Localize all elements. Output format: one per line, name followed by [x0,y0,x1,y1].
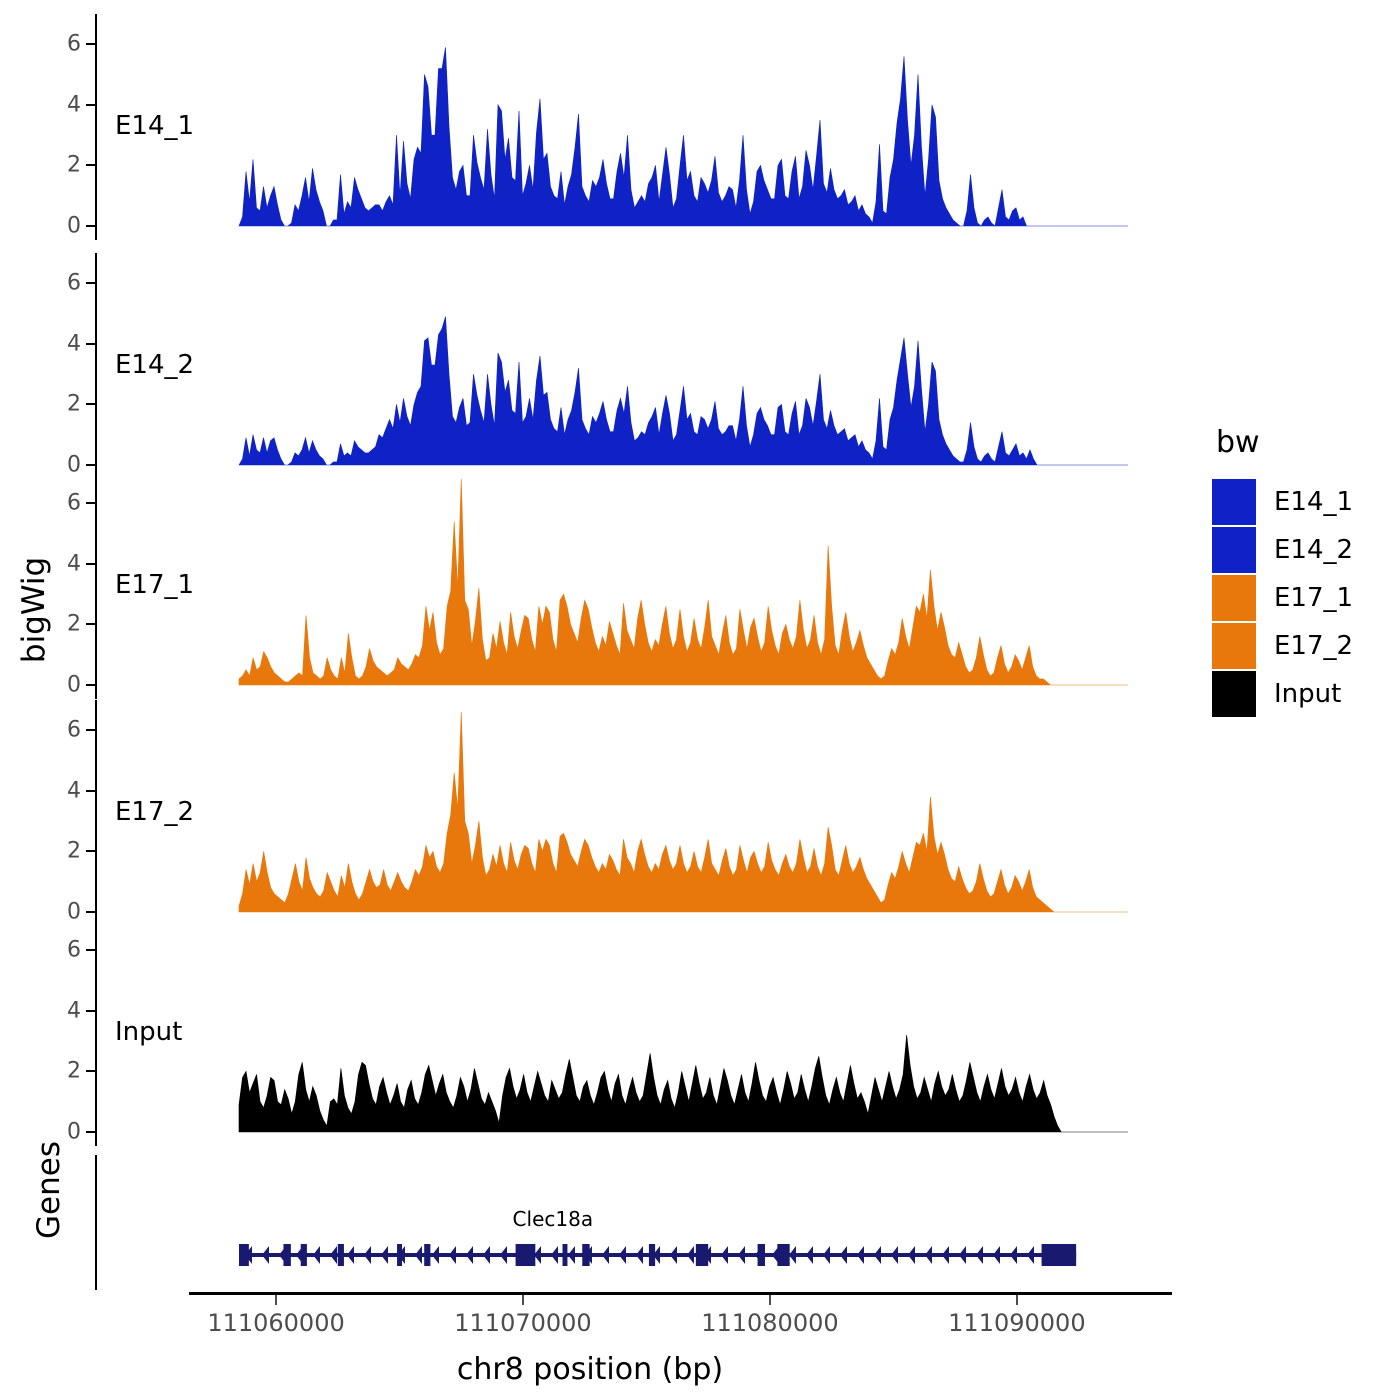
y-ticks-input: 0246 [0,920,95,1146]
y-tick-label: 6 [67,491,81,516]
y-tick-label: 4 [67,331,81,356]
legend-label: E14_1 [1274,487,1353,517]
track-panel-e17_1: 0246E17_1 [0,473,1180,699]
y-tick-label: 4 [67,998,81,1023]
genes-plot-area: Clec18a [97,1155,1180,1290]
y-tick [86,729,95,731]
y-tick [86,43,95,45]
track-label-e14_2: E14_2 [115,350,194,380]
y-ticks-e14_2: 0246 [0,253,95,479]
y-tick [86,1070,95,1072]
plot-area-input: Input [97,920,1180,1146]
y-ticks-e17_1: 0246 [0,473,95,699]
y-tick [86,911,95,913]
x-tick [1016,1295,1018,1305]
plot-area-e17_1: E17_1 [97,473,1180,699]
legend-item-e14_2[interactable]: E14_2 [1212,526,1392,574]
legend-swatch-e17_1 [1212,575,1256,621]
track-area-e14_1 [97,14,1180,240]
track-panel-e17_2: 0246E17_2 [0,700,1180,926]
x-axis-line [189,1292,1172,1295]
y-tick-label: 6 [67,938,81,963]
track-label-input: Input [115,1017,182,1047]
y-tick-label: 4 [67,551,81,576]
x-tick [769,1295,771,1305]
y-tick [86,104,95,106]
y-ticks-e17_2: 0246 [0,700,95,926]
y-tick [86,563,95,565]
y-tick [86,403,95,405]
y-tick [86,1131,95,1133]
track-panel-input: 0246Input [0,920,1180,1146]
x-tick-label: 111070000 [454,1309,591,1337]
legend-label: Input [1274,679,1341,709]
plot-area-e14_2: E14_2 [97,253,1180,479]
y-tick-label: 2 [67,153,81,178]
y-tick [86,464,95,466]
legend-items: E14_1E14_2E17_1E17_2Input [1212,478,1392,718]
track-label-e17_2: E17_2 [115,797,194,827]
x-tick [275,1295,277,1305]
y-tick-label: 0 [67,673,81,698]
y-tick-label: 4 [67,778,81,803]
gene-label: Clec18a [513,1207,594,1231]
y-tick-label: 0 [67,214,81,239]
x-axis-title: chr8 position (bp) [0,1352,1180,1387]
plot-root: bigWig Genes 0246E14_10246E14_20246E17_1… [0,0,1400,1400]
x-tick-label: 111060000 [207,1309,344,1337]
track-area-e17_1 [97,473,1180,699]
y-tick-label: 2 [67,839,81,864]
legend-swatch-e14_1 [1212,479,1256,525]
track-area-e17_2 [97,700,1180,926]
track-area-e14_2 [97,253,1180,479]
legend-swatch-e14_2 [1212,527,1256,573]
y-tick [86,1010,95,1012]
y-tick [86,850,95,852]
legend-item-e17_2[interactable]: E17_2 [1212,622,1392,670]
y-tick-label: 2 [67,612,81,637]
legend: bw E14_1E14_2E17_1E17_2Input [1212,425,1392,718]
legend-item-input[interactable]: Input [1212,670,1392,718]
x-tick-label: 111080000 [701,1309,838,1337]
plot-area-e14_1: E14_1 [97,14,1180,240]
track-area-input [97,920,1180,1146]
track-panel-e14_1: 0246E14_1 [0,14,1180,240]
y-tick [86,343,95,345]
y-tick-label: 2 [67,1059,81,1084]
y-tick [86,790,95,792]
legend-item-e14_1[interactable]: E14_1 [1212,478,1392,526]
plot-area-e17_2: E17_2 [97,700,1180,926]
track-label-e14_1: E14_1 [115,111,194,141]
legend-swatch-input [1212,671,1256,717]
y-tick [86,502,95,504]
legend-swatch-e17_2 [1212,623,1256,669]
legend-label: E14_2 [1274,535,1353,565]
x-tick [522,1295,524,1305]
y-tick-label: 0 [67,1120,81,1145]
track-panel-e14_2: 0246E14_2 [0,253,1180,479]
legend-label: E17_1 [1274,583,1353,613]
y-tick [86,282,95,284]
y-tick-label: 6 [67,32,81,57]
legend-title: bw [1216,425,1392,460]
y-tick-label: 6 [67,271,81,296]
x-tick-label: 111090000 [948,1309,1085,1337]
y-tick [86,684,95,686]
y-tick-label: 6 [67,718,81,743]
y-tick [86,225,95,227]
legend-item-e17_1[interactable]: E17_1 [1212,574,1392,622]
gene-model-graphic [97,1155,1180,1290]
y-tick [86,164,95,166]
legend-label: E17_2 [1274,631,1353,661]
y-tick-label: 4 [67,92,81,117]
y-tick [86,623,95,625]
genes-panel: Clec18a [0,1155,1180,1290]
y-ticks-e14_1: 0246 [0,14,95,240]
y-tick-label: 2 [67,392,81,417]
y-tick [86,949,95,951]
track-label-e17_1: E17_1 [115,570,194,600]
